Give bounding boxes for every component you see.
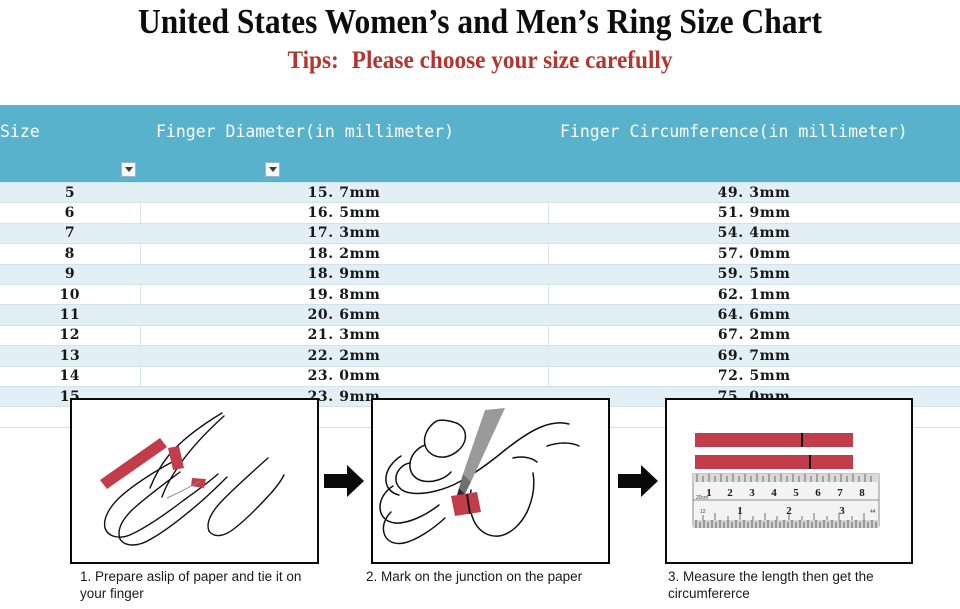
filter-dropdown-size[interactable] [121,162,136,177]
chevron-down-icon [269,167,277,172]
arrow-right-icon [616,461,660,501]
cell-size: 6 [0,203,140,223]
paper-strip-on-finger [168,446,184,470]
table-row: 5 15. 7mm 49. 3mm [0,183,960,203]
ruler-inch-left-label: 12 [700,509,706,515]
step-1-illustration-panel [70,398,319,564]
table-body: 5 15. 7mm 49. 3mm 6 16. 5mm 51. 9mm 7 17… [0,183,960,428]
ring-size-table: Size Finger Diameter(in millimeter) Fing… [0,105,960,428]
cell-circumference: 59. 5mm [548,264,960,284]
instruction-steps: 1 2 3 4 5 6 7 8 20cm 1 2 3 12 4 [0,396,960,609]
tips-line: Tips:Please choose your size carefully [34,46,927,76]
cell-size: 11 [0,305,140,325]
table-row: 9 18. 9mm 59. 5mm [0,264,960,284]
cell-circumference: 62. 1mm [548,284,960,304]
pen-icon [457,408,505,499]
cell-diameter: 19. 8mm [140,284,548,304]
page-title: United States Women’s and Men’s Ring Siz… [48,2,912,42]
cell-diameter: 16. 5mm [140,203,548,223]
cell-circumference: 51. 9mm [548,203,960,223]
tips-label: Tips: [287,47,338,74]
ruler: 1 2 3 4 5 6 7 8 20cm 1 2 3 12 4 [693,474,879,528]
column-header-diameter: Finger Diameter(in millimeter) [140,105,548,183]
table-row: 8 18. 2mm 57. 0mm [0,244,960,264]
cell-circumference: 57. 0mm [548,244,960,264]
ruler-cm-tick-7: 7 [837,487,843,499]
paper-strip-upper [695,433,853,447]
filter-dropdown-diameter[interactable] [265,162,280,177]
cell-circumference: 54. 4mm [548,223,960,243]
paper-strip-loose [100,438,167,489]
hand-marking-with-pen-illustration [373,400,608,562]
table-row: 11 20. 6mm 64. 6mm [0,305,960,325]
paper-strip-tip [191,478,206,488]
table-row: 7 17. 3mm 54. 4mm [0,223,960,243]
cell-diameter: 22. 2mm [140,346,548,366]
hand-with-paper-strip-illustration [72,400,317,562]
tips-text: Please choose your size carefully [352,47,673,74]
cell-size: 9 [0,264,140,284]
cell-diameter: 21. 3mm [140,325,548,345]
table-row: 6 16. 5mm 51. 9mm [0,203,960,223]
paper-strip-lower [695,455,853,469]
column-header-circumference-label: Finger Circumference(in millimeter) [548,122,908,141]
table-row: 12 21. 3mm 67. 2mm [0,325,960,345]
cell-circumference: 67. 2mm [548,325,960,345]
column-header-circumference: Finger Circumference(in millimeter) [548,105,960,183]
column-header-size: Size [0,105,140,183]
cell-size: 13 [0,346,140,366]
chevron-down-icon [125,167,133,172]
title-block: United States Women’s and Men’s Ring Siz… [0,0,960,76]
ruler-cm-tick-4: 4 [771,487,777,499]
column-header-diameter-label: Finger Diameter(in millimeter) [140,122,454,141]
ruler-cm-tick-2: 2 [727,487,733,499]
table-header: Size Finger Diameter(in millimeter) Fing… [0,105,960,183]
paper-strip-marked [451,492,481,516]
ruler-cm-tick-6: 6 [815,487,821,499]
cell-diameter: 17. 3mm [140,223,548,243]
cell-circumference: 72. 5mm [548,366,960,386]
cell-size: 14 [0,366,140,386]
cell-diameter: 18. 9mm [140,264,548,284]
column-header-size-label: Size [0,122,40,141]
cell-size: 10 [0,284,140,304]
cell-size: 12 [0,325,140,345]
table-header-row: Size Finger Diameter(in millimeter) Fing… [0,105,960,183]
arrow-right-icon [322,461,366,501]
step-3-caption: 3. Measure the length then get the circu… [668,568,918,602]
table-row: 10 19. 8mm 62. 1mm [0,284,960,304]
cell-circumference: 64. 6mm [548,305,960,325]
cell-circumference: 49. 3mm [548,183,960,203]
step-3-illustration-panel: 1 2 3 4 5 6 7 8 20cm 1 2 3 12 4 [665,398,913,564]
cell-diameter: 15. 7mm [140,183,548,203]
step-2-caption: 2. Mark on the junction on the paper [366,568,616,585]
cell-diameter: 18. 2mm [140,244,548,264]
table-row: 14 23. 0mm 72. 5mm [0,366,960,386]
cell-size: 8 [0,244,140,264]
step-1-caption: 1. Prepare aslip of paper and tie it on … [80,568,325,602]
table-row: 13 22. 2mm 69. 7mm [0,346,960,366]
paper-strips-on-ruler-illustration: 1 2 3 4 5 6 7 8 20cm 1 2 3 12 4 [667,400,911,562]
cell-diameter: 23. 0mm [140,366,548,386]
ruler-cm-tick-5: 5 [793,487,799,499]
ruler-inch-right-label: 44 [870,509,876,515]
cell-circumference: 69. 7mm [548,346,960,366]
cell-size: 5 [0,183,140,203]
cell-size: 7 [0,223,140,243]
ruler-inch-tick-3: 3 [839,505,845,517]
step-2-illustration-panel [371,398,610,564]
ruler-cm-tick-8: 8 [859,487,865,499]
cell-diameter: 20. 6mm [140,305,548,325]
ruler-cm-tick-3: 3 [749,487,755,499]
